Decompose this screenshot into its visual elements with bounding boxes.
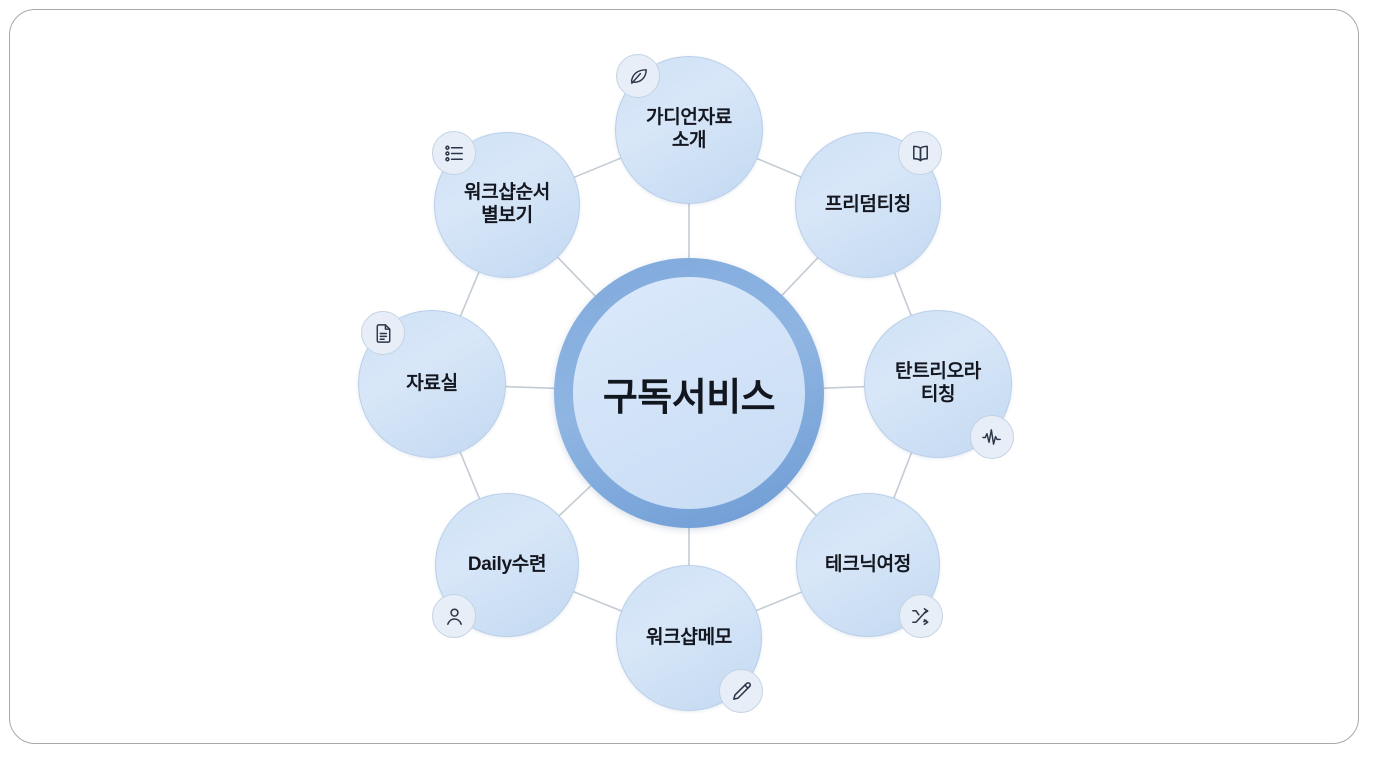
node-label-archive: 자료실 [396,373,468,396]
hub-node-label: 구독서비스 [603,366,775,421]
spoke-connector [505,387,555,389]
hub-node-inner: 구독서비스 [573,277,805,509]
pencil-icon [730,680,753,703]
spoke-connector [823,387,865,389]
node-label-daily-training: Daily수련 [458,554,556,577]
person-icon [443,605,466,628]
document-icon [372,322,395,345]
person-icon-badge-daily-training [432,594,476,638]
ring-connector [460,451,480,499]
pulse-icon [981,426,1004,449]
node-label-freedom-teaching: 프리덤티칭 [815,194,921,217]
bullet-list-icon-badge-workshop-order [432,131,476,175]
open-book-icon-badge-freedom-teaching [898,131,942,175]
leaf-icon [627,65,650,88]
diagram-stage: 구독서비스 가디언자료 소개프리덤티칭탄트리오라 티칭테크닉여정워크샵메모Dai… [0,0,1376,768]
ring-connector [894,272,911,316]
leaf-icon-badge-guardian-intro [616,54,660,98]
node-label-tantriora-teaching: 탄트리오라 티칭 [885,361,991,407]
node-label-technic-journey: 테크닉여정 [815,554,921,577]
bullet-list-icon [443,142,466,165]
ring-connector [756,592,803,611]
spoke-connector [559,485,592,516]
document-icon-badge-archive [361,311,405,355]
spoke-connector [781,257,818,296]
ring-connector [756,158,801,177]
shuffle-icon-badge-technic-journey [899,594,943,638]
shuffle-icon [910,605,933,628]
node-label-workshop-order: 워크샵순서 별보기 [454,182,560,228]
ring-connector [894,452,912,499]
pulse-icon-badge-tantriora-teaching [970,415,1014,459]
node-label-workshop-memo: 워크샵메모 [636,627,742,650]
ring-connector [574,158,622,178]
node-label-guardian-intro: 가디언자료 소개 [636,107,742,153]
ring-connector [573,591,622,611]
pencil-icon-badge-workshop-memo [719,669,763,713]
hub-node-subscription-service[interactable]: 구독서비스 [554,258,824,528]
spoke-connector [557,257,596,297]
open-book-icon [909,142,932,165]
ring-connector [460,271,479,316]
spoke-connector [786,486,817,516]
